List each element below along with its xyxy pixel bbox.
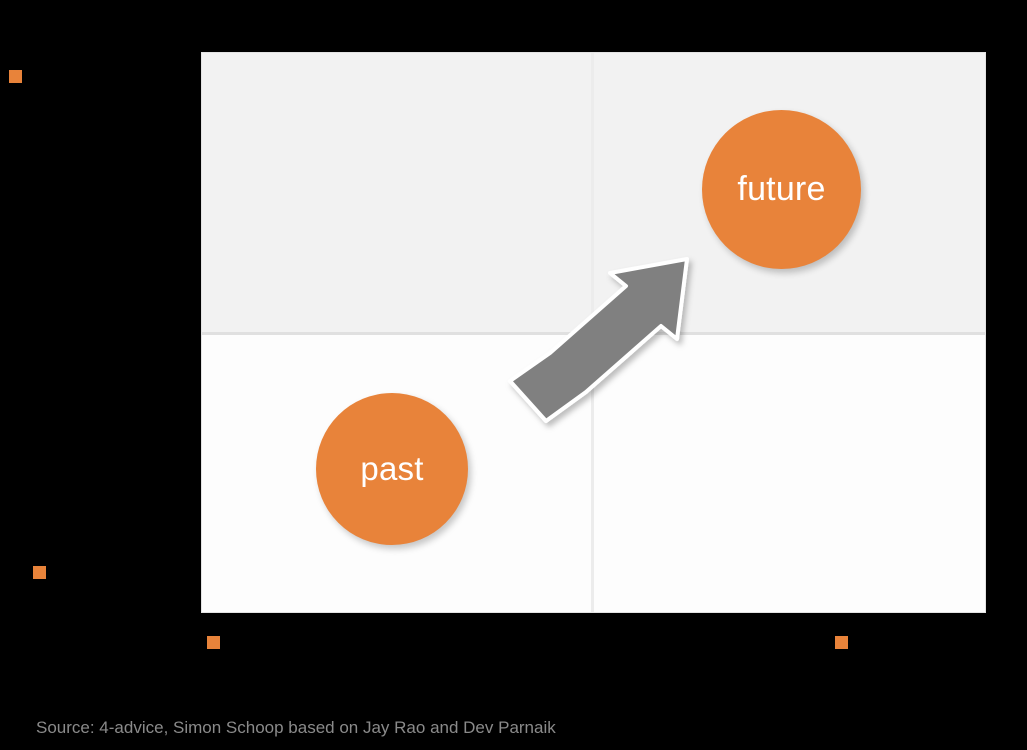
source-caption: Source: 4-advice, Simon Schoop based on … [36, 718, 556, 738]
axis-marker-left-bottom [33, 566, 46, 579]
quadrant-bottom-right [594, 333, 986, 613]
bubble-future-label: future [737, 172, 825, 208]
quadrant-divider-vertical [591, 53, 594, 612]
bubble-past[interactable]: past [316, 393, 468, 545]
bubble-future[interactable]: future [702, 110, 861, 269]
bubble-past-label: past [360, 452, 423, 487]
quadrant-top-left [202, 53, 594, 333]
axis-marker-bottom-right [835, 636, 848, 649]
axis-marker-bottom-left [207, 636, 220, 649]
axis-marker-left-top [9, 70, 22, 83]
quadrant-chart: future past [202, 53, 985, 612]
